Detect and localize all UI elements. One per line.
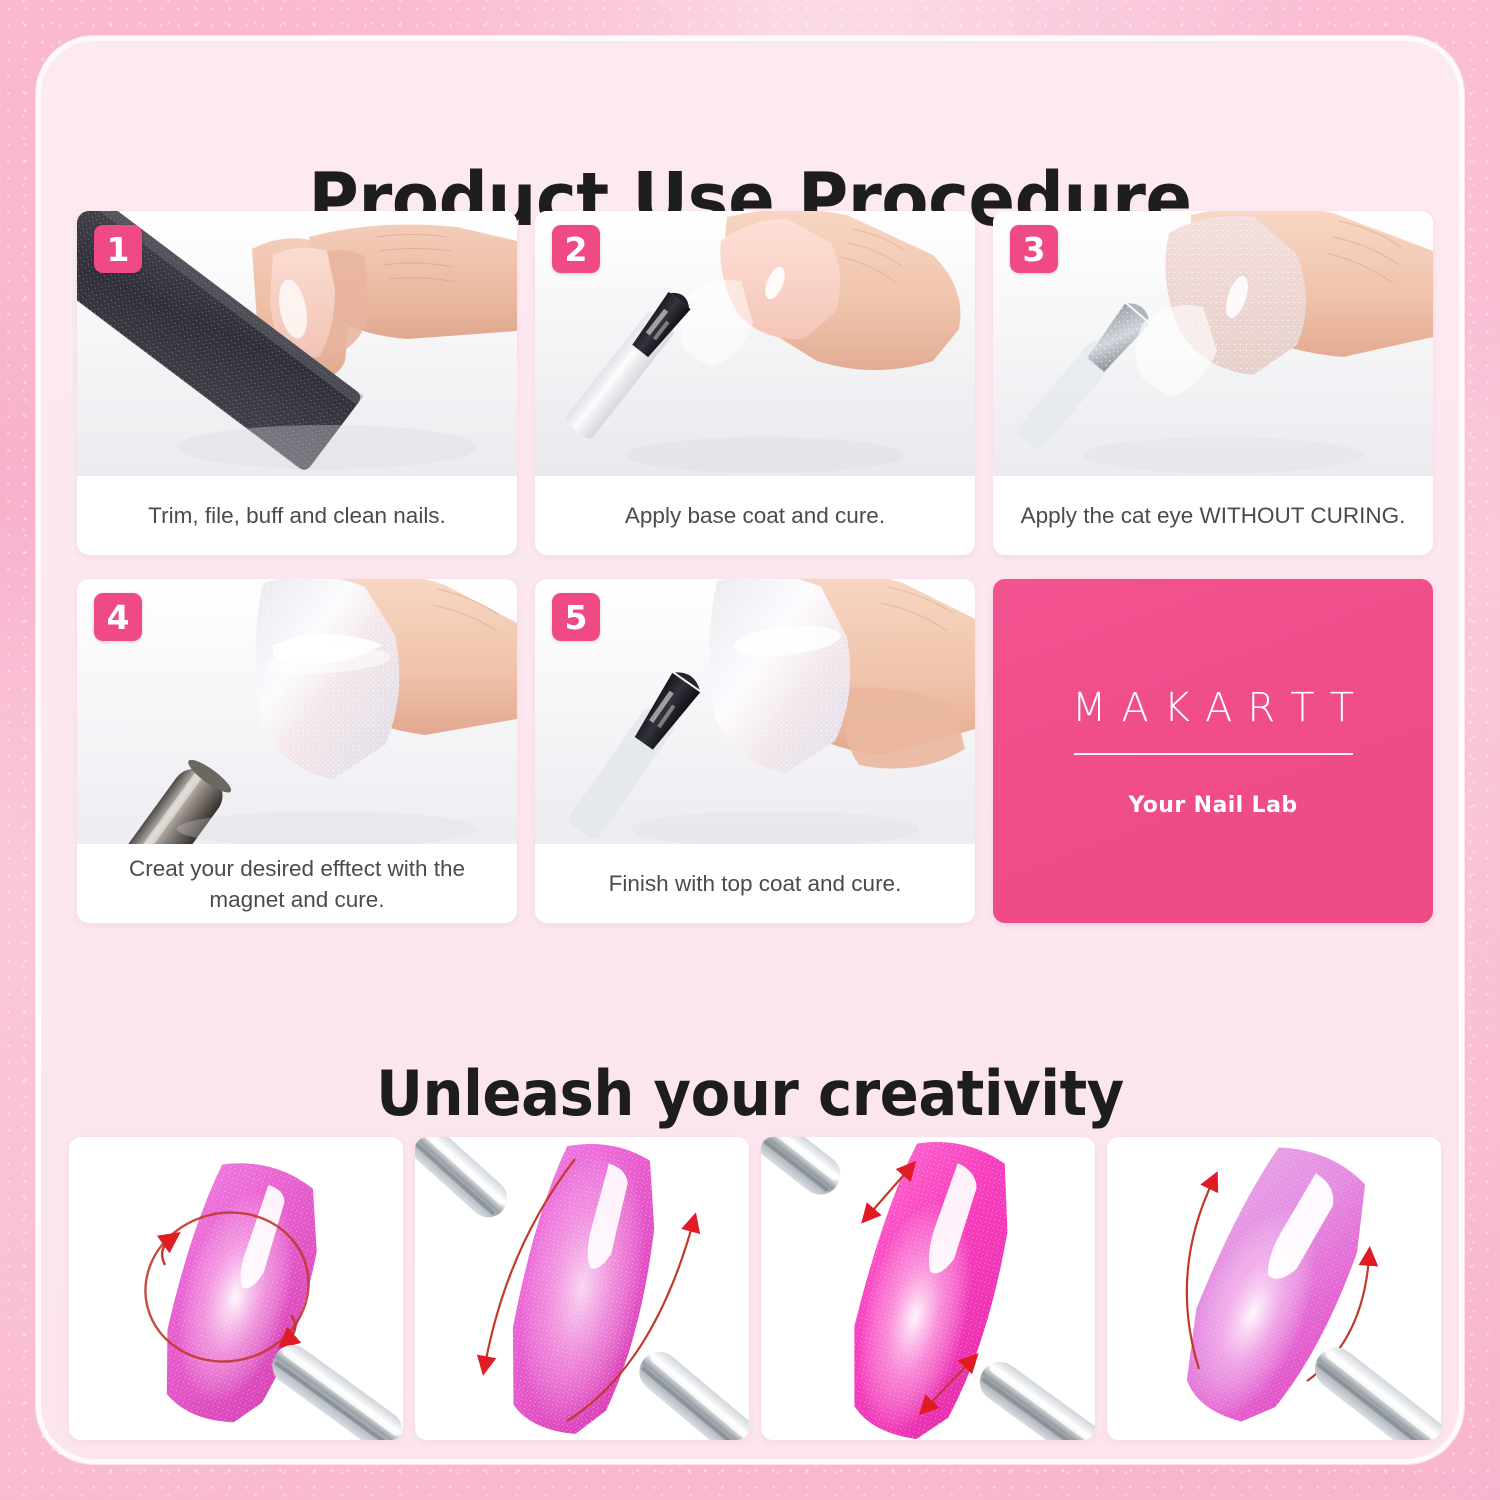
- step-card-3[interactable]: 3 Apply the cat eye WITHOUT CURING.: [993, 211, 1433, 555]
- step-caption: Apply the cat eye WITHOUT CURING.: [993, 476, 1433, 555]
- creativity-card-2[interactable]: [415, 1137, 749, 1440]
- step-1-photo: 1: [77, 211, 517, 476]
- step-card-1[interactable]: 1 Trim, file, buff and clean nails.: [77, 211, 517, 555]
- creativity-card-4[interactable]: [1107, 1137, 1441, 1440]
- brand-tagline: Your Nail Lab: [1128, 793, 1297, 818]
- creativity-card-3[interactable]: [761, 1137, 1095, 1440]
- brand-letter-0: M: [1072, 685, 1122, 731]
- brand-letter-1: A: [1121, 685, 1163, 731]
- brand-letter-5: T: [1290, 685, 1329, 731]
- step-3-photo: 3: [993, 211, 1433, 476]
- base-coat-brush-illustration: [535, 211, 975, 476]
- procedure-steps-grid: 1 Trim, file, buff and clean nails.: [70, 211, 1440, 923]
- brand-letter-3: A: [1205, 685, 1247, 731]
- step-4-photo: 4: [77, 579, 517, 844]
- brand-letter-2: K: [1164, 685, 1205, 731]
- brand-card: MAKARTT Your Nail Lab: [993, 579, 1433, 923]
- step-caption: Apply base coat and cure.: [535, 476, 975, 555]
- brand-divider: [1074, 753, 1353, 755]
- step-number-badge: 3: [1010, 225, 1058, 273]
- step-caption-line-1: Creat your desired efftect with the: [129, 856, 465, 881]
- step-caption: Trim, file, buff and clean nails.: [77, 476, 517, 555]
- cat-eye-gel-brush-illustration: [993, 211, 1433, 476]
- section-title-creativity: Unleash your creativity: [91, 1057, 1410, 1131]
- top-coat-brush-illustration: [535, 579, 975, 844]
- step-caption: Finish with top coat and cure.: [535, 844, 975, 923]
- step-card-4[interactable]: 4 Creat your desired efftect with the ma…: [77, 579, 517, 923]
- step-number-badge: 2: [552, 225, 600, 273]
- step-2-photo: 2: [535, 211, 975, 476]
- step-number-badge: 5: [552, 593, 600, 641]
- brand-logo-makartt: MAKARTT: [1057, 685, 1369, 731]
- brand-letter-6: T: [1330, 685, 1369, 731]
- upward-curve-motion-illustration: [1107, 1137, 1441, 1440]
- step-caption: Creat your desired efftect with the magn…: [77, 844, 517, 923]
- magnet-cat-eye-illustration: [77, 579, 517, 844]
- content-panel: Product Use Procedure: [36, 36, 1464, 1464]
- step-caption-line-2: magnet and cure.: [209, 887, 384, 912]
- nail-file-illustration: [77, 211, 517, 476]
- creativity-card-1[interactable]: [69, 1137, 403, 1440]
- step-card-2[interactable]: 2 Apply base coat and cure.: [535, 211, 975, 555]
- brand-letter-4: R: [1247, 685, 1290, 731]
- creativity-gallery: [70, 1137, 1440, 1440]
- vertical-sweep-motion-illustration: [415, 1137, 749, 1440]
- rotation-motion-illustration: [69, 1137, 403, 1440]
- step-number-badge: 4: [94, 593, 142, 641]
- step-5-photo: 5: [535, 579, 975, 844]
- step-number-badge: 1: [94, 225, 142, 273]
- step-card-5[interactable]: 5 Finish with top coat and cure.: [535, 579, 975, 923]
- toward-away-motion-illustration: [761, 1137, 1095, 1440]
